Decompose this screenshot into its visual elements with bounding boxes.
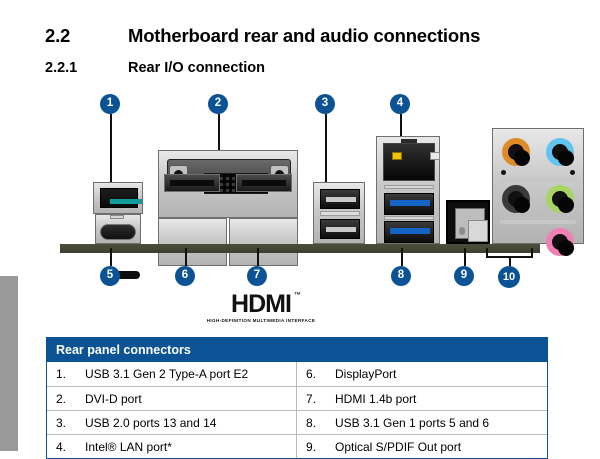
row-number: 6. xyxy=(297,367,335,381)
dvi-dp-hdmi-group xyxy=(158,150,298,244)
spdif-housing xyxy=(446,200,490,244)
usb31-divider xyxy=(384,216,434,220)
row-text: USB 2.0 ports 13 and 14 xyxy=(85,416,296,430)
row-text: USB 3.1 Gen 2 Type-A port E2 xyxy=(85,367,296,381)
subsection-title-text: Rear I/O connection xyxy=(128,60,265,76)
usb20-port-upper xyxy=(320,189,360,209)
audio-divider-upper xyxy=(500,177,576,181)
callout-6: 6 xyxy=(175,266,195,286)
spdif-toslink-inner xyxy=(468,220,488,242)
callout-3: 3 xyxy=(315,94,335,114)
row-number: 4. xyxy=(47,440,85,454)
row-number: 3. xyxy=(47,416,85,430)
usb20-blade-upper xyxy=(326,197,356,202)
usb-typea-port-slot xyxy=(100,188,138,208)
row-text: DVI-D port xyxy=(85,392,296,406)
lan-usb-divider xyxy=(384,185,434,189)
section-number: 2.2 xyxy=(45,25,70,47)
io-panel-base-bar xyxy=(60,244,540,253)
hdmi-port-shell xyxy=(229,218,298,266)
leader-line-10 xyxy=(509,256,511,266)
table-header: Rear panel connectors xyxy=(47,338,547,362)
callout-4: 4 xyxy=(390,94,410,114)
lan-usb-stack-shell xyxy=(376,136,440,244)
table-row: 9. Optical S/PDIF Out port xyxy=(297,434,547,458)
table-column-left: 1. USB 3.1 Gen 2 Type-A port E2 2. DVI-D… xyxy=(47,362,297,458)
table-row: 8. USB 3.1 Gen 1 ports 5 and 6 xyxy=(297,410,547,434)
table-row: 6. DisplayPort xyxy=(297,362,547,386)
usb31-blue-blade-lower xyxy=(390,228,430,234)
row-text: USB 3.1 Gen 1 ports 5 and 6 xyxy=(335,416,547,430)
callout-9: 9 xyxy=(454,266,474,286)
leader-line-7 xyxy=(257,248,259,266)
section-title: Motherboard rear and audio connections xyxy=(128,25,480,47)
hdmi-connector xyxy=(236,174,292,192)
usb20-blade-lower xyxy=(326,227,356,232)
bracket-10-right xyxy=(531,248,533,258)
rear-speaker-jack xyxy=(502,185,530,213)
usb-typea-port-shell xyxy=(93,182,143,214)
hdmi-wordmark: HDMI ™ xyxy=(231,292,291,317)
usb20-shell xyxy=(313,182,365,244)
table-column-right: 6. DisplayPort 7. HDMI 1.4b port 8. USB … xyxy=(297,362,547,458)
row-number: 2. xyxy=(47,392,85,406)
audio-divider-lower xyxy=(500,220,576,224)
usb31-blue-blade-upper xyxy=(390,200,430,206)
table-row: 3. USB 2.0 ports 13 and 14 xyxy=(47,410,296,434)
line-in-jack xyxy=(546,138,574,166)
row-text: Intel® LAN port* xyxy=(85,440,296,454)
subsection-number: 2.2.1 xyxy=(45,60,77,76)
lan-activity-led-icon xyxy=(392,152,402,160)
spdif-toslink-port xyxy=(455,208,485,239)
lan-rj45-port xyxy=(383,143,435,181)
table-row: 7. HDMI 1.4b port xyxy=(297,386,547,410)
hdmi-tagline: HIGH-DEFINITION MULTIMEDIA INTERFACE xyxy=(205,318,317,323)
displayport-connector xyxy=(164,174,220,192)
optical-spdif-group xyxy=(446,200,490,244)
usb31-gen1-port-upper xyxy=(384,193,434,215)
leader-line-8 xyxy=(401,248,403,266)
lan-speed-led-icon xyxy=(430,152,440,160)
usb31-gen1-port-lower xyxy=(384,221,434,243)
row-number: 8. xyxy=(297,416,335,430)
hdmi-logo: HDMI ™ HIGH-DEFINITION MULTIMEDIA INTERF… xyxy=(205,292,317,323)
callout-10: 10 xyxy=(498,266,520,288)
hdmi-wordmark-text: HDMI xyxy=(231,290,291,318)
audio-screw-dot-right xyxy=(570,170,575,175)
audio-jack-group xyxy=(492,128,584,244)
row-number: 1. xyxy=(47,367,85,381)
usb-typec-connector xyxy=(100,224,136,240)
table-row: 4. Intel® LAN port* xyxy=(47,434,296,458)
usb20-divider xyxy=(320,211,360,216)
callout-8: 8 xyxy=(391,266,411,286)
displayport-shell xyxy=(158,218,227,266)
callout-7: 7 xyxy=(247,266,267,286)
table-row: 1. USB 3.1 Gen 2 Type-A port E2 xyxy=(47,362,296,386)
table-row: 2. DVI-D port xyxy=(47,386,296,410)
table-body: 1. USB 3.1 Gen 2 Type-A port E2 2. DVI-D… xyxy=(47,362,547,458)
rear-panel-connectors-table: Rear panel connectors 1. USB 3.1 Gen 2 T… xyxy=(46,337,548,459)
row-text: HDMI 1.4b port xyxy=(335,392,547,406)
spdif-toslink-nub xyxy=(459,227,465,235)
usb-typea-teal-insert xyxy=(110,199,142,204)
callout-1: 1 xyxy=(100,94,120,114)
usb20-port-lower xyxy=(320,219,360,239)
row-text: DisplayPort xyxy=(335,367,547,381)
row-number: 7. xyxy=(297,392,335,406)
hdmi-trademark-icon: ™ xyxy=(294,292,300,299)
center-subwoofer-jack xyxy=(502,138,530,166)
leader-line-9 xyxy=(464,248,466,266)
audio-screw-dot-left xyxy=(501,170,506,175)
page-edge-tab xyxy=(0,276,18,451)
usb-typec-tab xyxy=(110,215,124,219)
callout-5: 5 xyxy=(100,266,120,286)
leader-line-6 xyxy=(185,248,187,266)
leader-line-5 xyxy=(110,248,112,266)
usb-typea-and-typec-group xyxy=(93,182,143,244)
callout-2: 2 xyxy=(208,94,228,114)
usb20-port-group xyxy=(313,182,365,244)
microphone-jack xyxy=(546,228,574,256)
row-text: Optical S/PDIF Out port xyxy=(335,440,547,454)
rear-io-panel-illustration xyxy=(60,128,540,248)
line-out-jack xyxy=(546,185,574,213)
row-number: 9. xyxy=(297,440,335,454)
lan-and-usb31-group xyxy=(376,136,440,244)
